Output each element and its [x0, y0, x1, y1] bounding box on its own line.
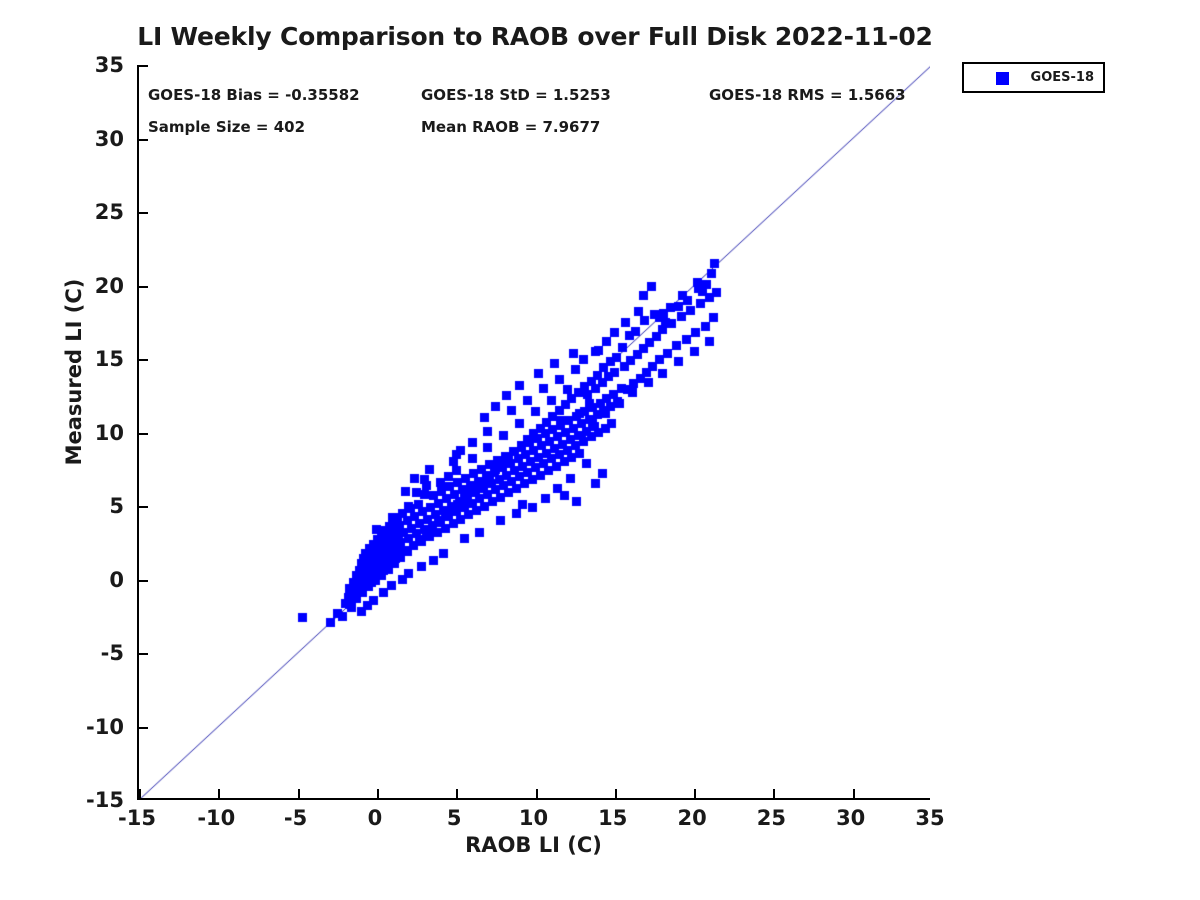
- x-tick-label-1: -10: [197, 806, 235, 830]
- annotation-mean: Mean RAOB = 7.9677: [421, 118, 600, 136]
- y-tick-3: [139, 580, 148, 582]
- legend-marker-swatch: [996, 72, 1009, 85]
- y-tick-label-8: 25: [95, 200, 124, 224]
- y-tick-6: [139, 359, 148, 361]
- x-tick-7: [694, 789, 696, 798]
- legend[interactable]: GOES-18: [962, 62, 1105, 93]
- x-tick-2: [298, 789, 300, 798]
- x-tick-9: [853, 789, 855, 798]
- page-title: LI Weekly Comparison to RAOB over Full D…: [0, 22, 1070, 51]
- y-tick-label-3: 0: [109, 568, 124, 592]
- y-axis-label: Measured LI (C): [62, 272, 86, 472]
- x-tick-label-9: 30: [836, 806, 865, 830]
- x-tick-label-5: 10: [519, 806, 548, 830]
- x-axis-label: RAOB LI (C): [137, 833, 930, 857]
- y-tick-10: [139, 65, 148, 67]
- annotation-bias: GOES-18 Bias = -0.35582: [148, 86, 360, 104]
- x-tick-4: [456, 789, 458, 798]
- y-tick-label-1: -10: [86, 715, 124, 739]
- x-tick-6: [615, 789, 617, 798]
- y-tick-label-6: 15: [95, 347, 124, 371]
- y-tick-label-9: 30: [95, 127, 124, 151]
- scatter-plot-figure: LI Weekly Comparison to RAOB over Full D…: [0, 0, 1200, 900]
- x-tick-1: [218, 789, 220, 798]
- annotation-std: GOES-18 StD = 1.5253: [421, 86, 611, 104]
- x-tick-0: [139, 789, 141, 798]
- x-tick-label-2: -5: [284, 806, 307, 830]
- y-tick-9: [139, 139, 148, 141]
- x-tick-label-3: 0: [368, 806, 383, 830]
- y-tick-label-0: -15: [86, 788, 124, 812]
- y-tick-5: [139, 433, 148, 435]
- x-tick-label-10: 35: [915, 806, 944, 830]
- y-tick-label-4: 5: [109, 494, 124, 518]
- y-tick-2: [139, 653, 148, 655]
- x-tick-label-8: 25: [757, 806, 786, 830]
- y-tick-label-10: 35: [95, 53, 124, 77]
- scatter-canvas: [139, 65, 930, 800]
- y-tick-label-2: -5: [101, 641, 124, 665]
- x-tick-label-4: 5: [447, 806, 462, 830]
- annotation-rms: GOES-18 RMS = 1.5663: [709, 86, 906, 104]
- x-tick-8: [773, 789, 775, 798]
- y-tick-8: [139, 212, 148, 214]
- y-tick-7: [139, 286, 148, 288]
- y-tick-label-7: 20: [95, 274, 124, 298]
- annotation-sample: Sample Size = 402: [148, 118, 305, 136]
- x-tick-5: [536, 789, 538, 798]
- legend-item-label: GOES-18: [1031, 70, 1094, 85]
- y-tick-label-5: 10: [95, 421, 124, 445]
- x-tick-label-6: 15: [598, 806, 627, 830]
- plot-area: [137, 65, 930, 800]
- y-tick-1: [139, 727, 148, 729]
- x-tick-label-7: 20: [677, 806, 706, 830]
- x-tick-3: [377, 789, 379, 798]
- y-tick-4: [139, 506, 148, 508]
